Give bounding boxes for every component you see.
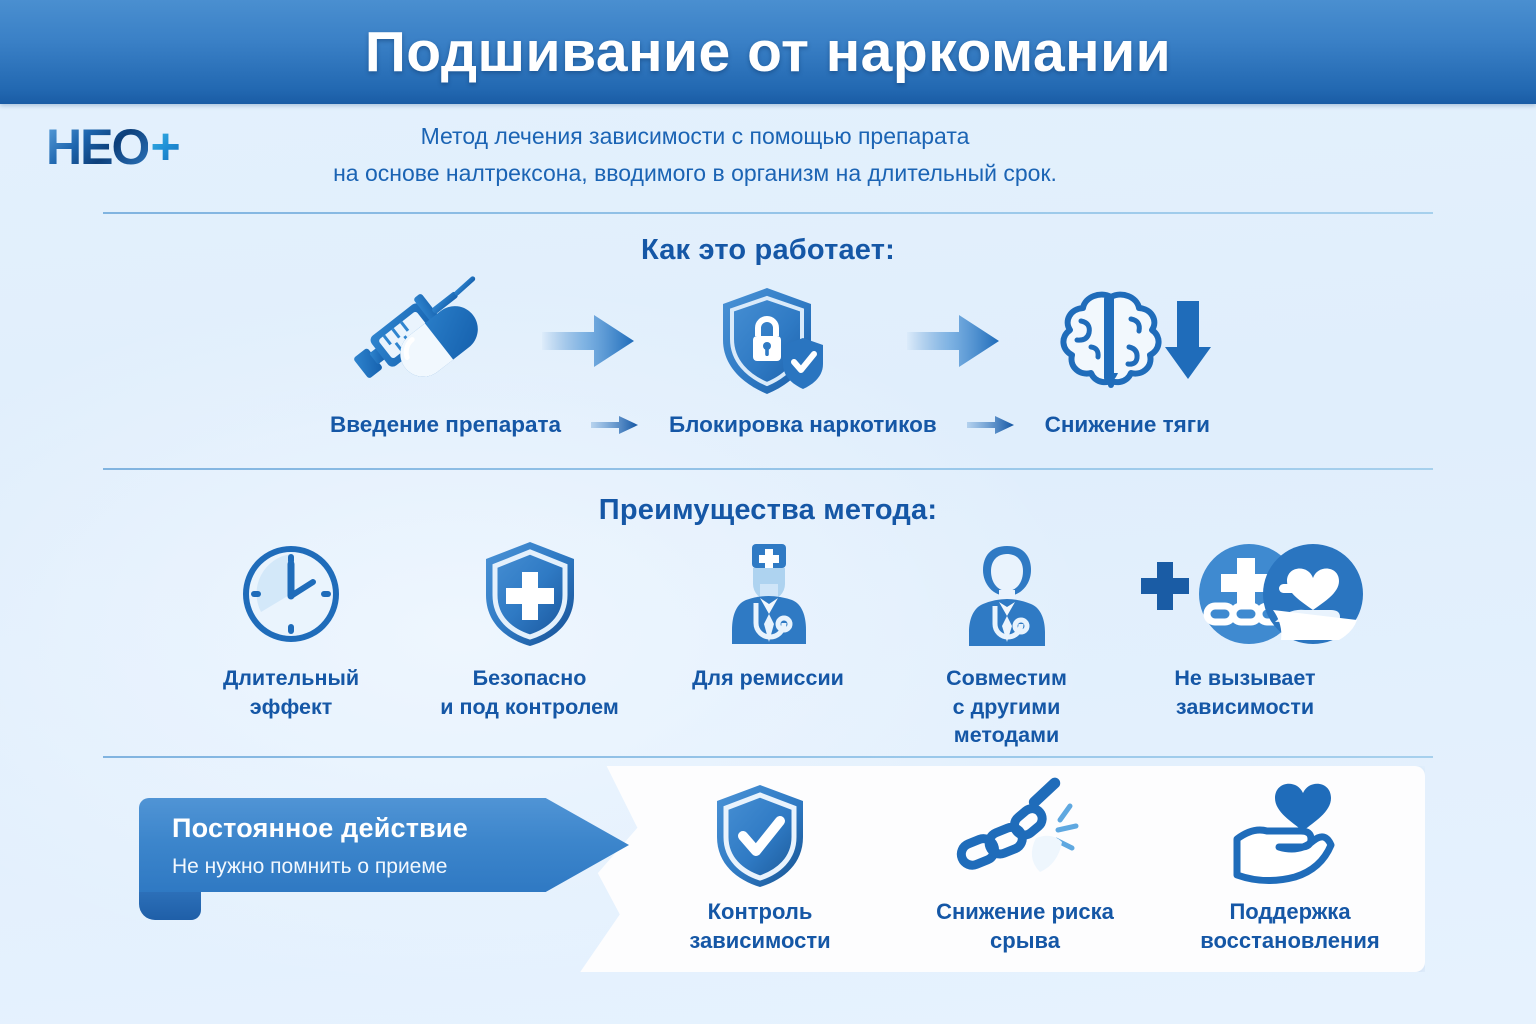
- benefit-label-5b: зависимости: [1174, 693, 1315, 722]
- divider-bottom: [103, 756, 1433, 758]
- bottom-panel-items: Контроль зависимости: [635, 780, 1415, 960]
- panel-item-control: Контроль зависимости: [635, 780, 885, 955]
- benefits-heading: Преимущества метода:: [0, 494, 1536, 527]
- shield-cross-icon: [480, 540, 580, 648]
- benefit-label-5a: Не вызывает: [1174, 664, 1315, 693]
- medic-person-icon: [955, 540, 1059, 648]
- subtitle-line-2: на основе налтрексона, вводимого в орган…: [270, 155, 1120, 192]
- benefit-item-compatible: Совместим с другими методами: [902, 540, 1112, 750]
- page-title: Подшивание от наркомании: [365, 24, 1171, 81]
- benefit-label-2b: и под контролем: [440, 693, 618, 722]
- breaking-chain-icon: [950, 780, 1100, 892]
- doctor-icon: [716, 540, 820, 648]
- panel-label-1: Контроль зависимости: [635, 898, 885, 955]
- benefit-label-4a: Совместим: [946, 664, 1067, 693]
- down-arrow-icon: [1165, 301, 1211, 379]
- plus-sign: [1141, 562, 1189, 610]
- subtitle-line-1: Метод лечения зависимости с помощью преп…: [270, 118, 1120, 155]
- panel-label-2: Снижение риска срыва: [900, 898, 1150, 955]
- benefits-row: Длительный эффект Безопасно: [186, 540, 1350, 740]
- bottom-panel: Контроль зависимости: [545, 766, 1425, 972]
- divider-middle: [103, 468, 1433, 470]
- brain-down-arrow-icon: [1060, 282, 1210, 400]
- broken-chain-heart-hand-icon: [1133, 540, 1357, 648]
- brand-logo: НЕО +: [46, 116, 236, 178]
- panel-item-relapse: Снижение риска срыва: [900, 780, 1150, 955]
- divider-top: [103, 212, 1433, 214]
- syringe-pill-icon: [330, 282, 480, 400]
- benefit-item-long-effect: Длительный эффект: [186, 540, 396, 721]
- panel-item-support: Поддержка восстановления: [1165, 780, 1415, 955]
- arrow-right-icon-2: [903, 306, 1003, 376]
- benefit-label-3: Для ремиссии: [692, 664, 844, 693]
- benefit-item-safe: Безопасно и под контролем: [425, 540, 635, 721]
- benefit-label-4b: с другими: [946, 693, 1067, 722]
- panel-label-3b: восстановления: [1200, 927, 1379, 956]
- panel-label-3a: Поддержка: [1200, 898, 1379, 927]
- infographic-page: Подшивание от наркомании НЕО + Метод леч…: [0, 0, 1536, 1024]
- benefit-label-1: Длительный эффект: [186, 664, 396, 721]
- arrow-right-small-icon-1: [587, 414, 643, 436]
- subtitle-block: Метод лечения зависимости с помощью преп…: [270, 118, 1120, 193]
- benefit-item-no-addiction: Не вызывает зависимости: [1140, 540, 1350, 721]
- ribbon-subtitle: Не нужно помнить о приеме: [172, 854, 572, 879]
- step-label-1: Введение препарата: [330, 412, 561, 438]
- logo-text: НЕО: [46, 122, 148, 172]
- benefit-label-2a: Безопасно: [440, 664, 618, 693]
- how-it-works-heading: Как это работает:: [0, 234, 1536, 267]
- clock-icon: [239, 540, 343, 648]
- arrow-right-icon: [538, 306, 638, 376]
- shield-check-icon: [712, 780, 808, 892]
- arrow-right-small-icon-2: [963, 414, 1019, 436]
- step-label-2: Блокировка наркотиков: [669, 412, 937, 438]
- shield-lock-check-icon: [695, 282, 845, 400]
- benefit-label-4c: методами: [946, 721, 1067, 750]
- ribbon-text-block: Постоянное действие Не нужно помнить о п…: [172, 812, 572, 880]
- benefit-item-remission: Для ремиссии: [663, 540, 873, 693]
- ribbon-title: Постоянное действие: [172, 812, 572, 844]
- how-it-works-icons: [330, 282, 1210, 400]
- how-it-works-labels: Введение препарата Блокировка наркотиков…: [330, 408, 1210, 442]
- hand-heart-icon: [1225, 780, 1355, 892]
- logo-plus-icon: +: [150, 121, 180, 173]
- step-label-3: Снижение тяги: [1045, 412, 1210, 438]
- page-header: Подшивание от наркомании: [0, 0, 1536, 104]
- ribbon-banner: Постоянное действие Не нужно помнить о п…: [139, 798, 629, 920]
